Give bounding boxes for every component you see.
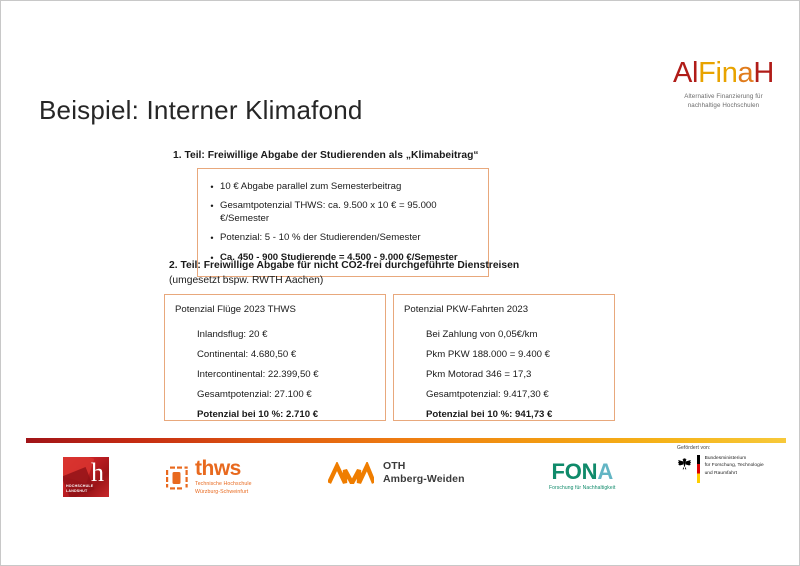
alfinah-subtitle-line2: nachhaltige Hochschulen	[656, 102, 791, 111]
fona-letter-f: F	[551, 459, 564, 484]
landshut-caption: HOCHSCHULE LANDSHUT	[66, 484, 93, 494]
potential-car-title: Potenzial PKW-Fahrten 2023	[404, 304, 606, 316]
german-eagle-icon	[677, 456, 692, 471]
section-2-subheading: (umgesetzt bspw. RWTH Aachen)	[169, 274, 519, 289]
bmbf-line3: und Raumfahrt	[705, 470, 764, 477]
bmbf-line2: für Forschung, Technologie	[705, 462, 764, 469]
alfinah-part-h: H	[753, 57, 774, 89]
thws-mark-icon	[164, 465, 190, 491]
german-flag-icon	[697, 455, 700, 483]
data-row: Intercontinental: 22.399,50 €	[175, 365, 377, 385]
bullet-icon: •	[204, 200, 220, 212]
landshut-letter-h: h	[91, 459, 104, 486]
alfinah-part-a: a	[738, 57, 754, 89]
oth-amberg-weiden-logo: OTH Amberg-Weiden	[328, 460, 465, 487]
slide: AlFinaH Alternative Finanzierung für nac…	[0, 0, 800, 566]
thws-wordmark: thws	[195, 459, 252, 479]
alfinah-logo: AlFinaH Alternative Finanzierung für nac…	[656, 59, 791, 111]
bmbf-row: Bundesministerium für Forschung, Technol…	[677, 455, 764, 483]
bmbf-funded-by-label: Gefördert von:	[677, 445, 764, 451]
bullet-label: Potenzial: 5 - 10 % der Studierenden/Sem…	[220, 232, 421, 244]
footer-logo-strip: h HOCHSCHULE LANDSHUT	[1, 451, 800, 506]
bullet-icon: •	[204, 181, 220, 193]
fona-letter-a: A	[597, 459, 613, 484]
landshut-caption-line2: LANDSHUT	[66, 489, 93, 494]
data-row-total: Potenzial bei 10 %: 941,73 €	[404, 405, 606, 425]
thws-subtitle: Technische Hochschule Würzburg-Schweinfu…	[195, 481, 252, 497]
bmbf-ministry-name: Bundesministerium für Forschung, Technol…	[705, 455, 764, 477]
hochschule-landshut-logo: h HOCHSCHULE LANDSHUT	[63, 457, 109, 497]
alfinah-part-fin: Fin	[698, 57, 737, 89]
oth-mark-icon	[328, 462, 374, 484]
fona-letter-o: O	[565, 459, 582, 484]
alfinah-wordmark: AlFinaH	[656, 59, 791, 88]
oth-line2: Amberg-Weiden	[383, 473, 465, 486]
potential-flights-box: Potenzial Flüge 2023 THWS Inlandsflug: 2…	[164, 294, 386, 421]
list-item: • 10 € Abgabe parallel zum Semesterbeitr…	[204, 177, 478, 197]
potential-car-box: Potenzial PKW-Fahrten 2023 Bei Zahlung v…	[393, 294, 615, 421]
oth-textblock: OTH Amberg-Weiden	[383, 460, 465, 487]
data-row: Inlandsflug: 20 €	[175, 325, 377, 345]
fona-letter-n: N	[582, 459, 598, 484]
section-2-heading: 2. Teil: Freiwillige Abgabe für nicht CO…	[169, 259, 519, 289]
thws-logo: thws Technische Hochschule Würzburg-Schw…	[164, 459, 252, 497]
alfinah-subtitle: Alternative Finanzierung für nachhaltige…	[656, 93, 791, 111]
bullet-label: Gesamtpotenzial THWS: ca. 9.500 x 10 € =…	[220, 200, 478, 225]
list-item: • Potenzial: 5 - 10 % der Studierenden/S…	[204, 229, 478, 249]
data-row: Continental: 4.680,50 €	[175, 345, 377, 365]
data-row: Pkm Motorad 346 = 17,3	[404, 365, 606, 385]
thws-subtitle-line2: Würzburg-Schweinfurt	[195, 489, 252, 497]
bullet-icon: •	[204, 232, 220, 244]
bmbf-line1: Bundesministerium	[705, 455, 764, 462]
data-row: Bei Zahlung von 0,05€/km	[404, 325, 606, 345]
section-2-heading-main: 2. Teil: Freiwillige Abgabe für nicht CO…	[169, 260, 519, 271]
fona-logo: FONA Forschung für Nachhaltigkeit	[549, 461, 615, 491]
thws-textblock: thws Technische Hochschule Würzburg-Schw…	[195, 459, 252, 497]
fona-subtitle: Forschung für Nachhaltigkeit	[549, 485, 615, 491]
data-row-total: Potenzial bei 10 %: 2.710 €	[175, 405, 377, 425]
fona-wordmark: FONA	[549, 461, 615, 483]
oth-line1: OTH	[383, 460, 465, 473]
potential-flights-title: Potenzial Flüge 2023 THWS	[175, 304, 377, 316]
data-row: Gesamtpotenzial: 9.417,30 €	[404, 385, 606, 405]
thws-subtitle-line1: Technische Hochschule	[195, 481, 252, 489]
footer-gradient-divider	[26, 438, 786, 443]
alfinah-part-al: Al	[673, 57, 698, 89]
data-row: Pkm PKW 188.000 = 9.400 €	[404, 345, 606, 365]
list-item: • Gesamtpotenzial THWS: ca. 9.500 x 10 €…	[204, 197, 478, 229]
bullet-label: 10 € Abgabe parallel zum Semesterbeitrag	[220, 181, 401, 193]
bmbf-logo: Gefördert von:	[677, 445, 764, 483]
data-row: Gesamtpotenzial: 27.100 €	[175, 385, 377, 405]
section-1-heading: 1. Teil: Freiwillige Abgabe der Studiere…	[173, 149, 479, 164]
page-title: Beispiel: Interner Klimafond	[39, 95, 363, 126]
alfinah-subtitle-line1: Alternative Finanzierung für	[656, 93, 791, 102]
